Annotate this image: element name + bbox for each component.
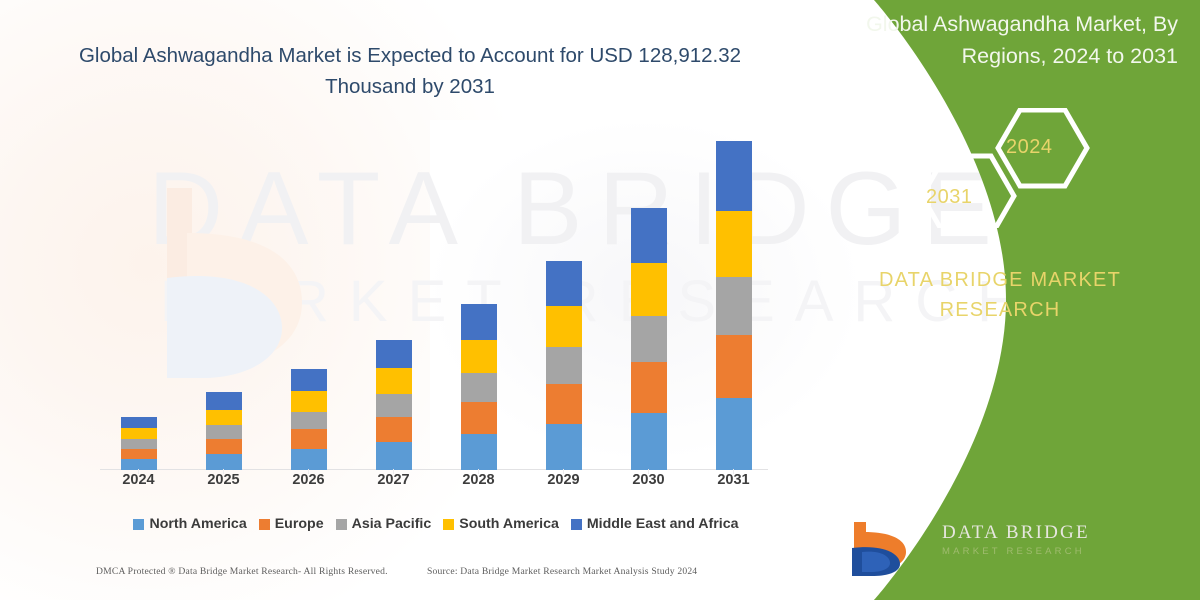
bar-segment xyxy=(376,394,412,417)
x-axis-label: 2030 xyxy=(610,472,688,488)
bar-group xyxy=(606,208,691,470)
footer-copyright: DMCA Protected ® Data Bridge Market Rese… xyxy=(96,566,388,577)
bar-segment xyxy=(291,391,327,411)
data-bridge-logo-icon xyxy=(832,516,932,578)
legend-swatch-icon xyxy=(133,519,144,530)
footer: DMCA Protected ® Data Bridge Market Rese… xyxy=(0,566,790,590)
bar-segment xyxy=(291,429,327,449)
bar-segment xyxy=(206,439,242,454)
bar-segment xyxy=(291,449,327,470)
chart-plot-area xyxy=(96,140,776,470)
x-axis-labels: 20242025202620272028202920302031 xyxy=(96,472,776,494)
stacked-bar xyxy=(121,417,157,470)
x-axis-label: 2029 xyxy=(525,472,603,488)
bar-group xyxy=(266,369,351,470)
hexagon-shapes-icon xyxy=(890,108,1140,228)
bar-segment xyxy=(376,417,412,442)
legend-item: Europe xyxy=(259,516,324,532)
legend-label: Middle East and Africa xyxy=(587,516,739,532)
bar-segment xyxy=(631,362,667,412)
bar-segment xyxy=(631,316,667,362)
legend-swatch-icon xyxy=(336,519,347,530)
bar-segment xyxy=(716,335,752,398)
chart-legend: North AmericaEuropeAsia PacificSouth Ame… xyxy=(96,512,776,536)
stacked-bar xyxy=(376,340,412,470)
bar-segment xyxy=(716,141,752,211)
panel-title: Global Ashwagandha Market, By Regions, 2… xyxy=(820,8,1178,72)
stacked-bar xyxy=(461,304,497,470)
bar-segment xyxy=(461,304,497,339)
bar-segment xyxy=(546,384,582,424)
bar-segment xyxy=(121,417,157,429)
bar-segment xyxy=(206,392,242,409)
bar-segment xyxy=(121,428,157,439)
bar-segment xyxy=(206,454,242,471)
brand-name: DATA BRIDGE MARKET RESEARCH xyxy=(820,265,1180,325)
bar-group xyxy=(181,392,266,470)
bar-segment xyxy=(461,402,497,434)
bar-segment xyxy=(716,211,752,277)
bar-segment xyxy=(121,449,157,459)
legend-item: Asia Pacific xyxy=(336,516,432,532)
hex-label-2031: 2031 xyxy=(926,186,973,209)
footer-source: Source: Data Bridge Market Research Mark… xyxy=(427,566,697,577)
bar-segment xyxy=(716,277,752,335)
bar-segment xyxy=(546,424,582,470)
stacked-bar xyxy=(291,369,327,470)
stacked-bar xyxy=(546,261,582,470)
infographic-canvas: DATA BRIDGE MARKET RESEARCH Global Ashwa… xyxy=(0,0,1200,600)
logo-wordmark: DATA BRIDGE xyxy=(942,522,1090,544)
legend-item: Middle East and Africa xyxy=(571,516,739,532)
bar-segment xyxy=(376,340,412,368)
bar-segment xyxy=(291,369,327,391)
x-axis-label: 2027 xyxy=(355,472,433,488)
x-axis-label: 2026 xyxy=(270,472,348,488)
corner-logo: DATA BRIDGE MARKET RESEARCH xyxy=(820,514,1180,578)
bar-segment xyxy=(121,439,157,448)
brand-name-line1: DATA BRIDGE MARKET xyxy=(879,269,1121,291)
bar-segment xyxy=(631,413,667,470)
stacked-bar xyxy=(206,392,242,470)
bar-segment xyxy=(376,368,412,394)
legend-item: North America xyxy=(133,516,246,532)
stacked-bar xyxy=(631,208,667,470)
brand-panel-content: Global Ashwagandha Market, By Regions, 2… xyxy=(800,0,1200,600)
bar-segment xyxy=(376,442,412,470)
bar-segment xyxy=(546,347,582,384)
stacked-bar-chart xyxy=(96,140,776,470)
legend-label: South America xyxy=(459,516,559,532)
x-axis-label: 2024 xyxy=(100,472,178,488)
legend-swatch-icon xyxy=(443,519,454,530)
hex-label-2024: 2024 xyxy=(1006,136,1053,159)
bar-group xyxy=(351,340,436,470)
bar-segment xyxy=(716,398,752,470)
bar-segment xyxy=(206,410,242,426)
legend-label: Europe xyxy=(275,516,324,532)
bar-segment xyxy=(206,425,242,438)
bar-segment xyxy=(631,208,667,264)
x-axis-label: 2028 xyxy=(440,472,518,488)
legend-item: South America xyxy=(443,516,559,532)
legend-swatch-icon xyxy=(259,519,270,530)
bar-segment xyxy=(546,306,582,348)
stacked-bar xyxy=(716,141,752,470)
bar-group xyxy=(436,304,521,470)
bar-segment xyxy=(461,434,497,470)
logo-subtext: MARKET RESEARCH xyxy=(942,546,1085,557)
legend-swatch-icon xyxy=(571,519,582,530)
bar-segment xyxy=(291,412,327,429)
x-axis-label: 2031 xyxy=(695,472,773,488)
legend-label: Asia Pacific xyxy=(352,516,432,532)
legend-label: North America xyxy=(149,516,246,532)
bar-group xyxy=(691,141,776,470)
bar-group xyxy=(96,417,181,470)
bar-segment xyxy=(461,340,497,373)
brand-name-line2: RESEARCH xyxy=(940,299,1061,321)
bar-segment xyxy=(546,261,582,306)
bar-segment xyxy=(631,263,667,316)
bar-group xyxy=(521,261,606,470)
page-title: Global Ashwagandha Market is Expected to… xyxy=(60,40,760,102)
hexagon-badges: 2031 2024 xyxy=(890,108,1140,228)
bar-segment xyxy=(461,373,497,402)
x-axis-label: 2025 xyxy=(185,472,263,488)
